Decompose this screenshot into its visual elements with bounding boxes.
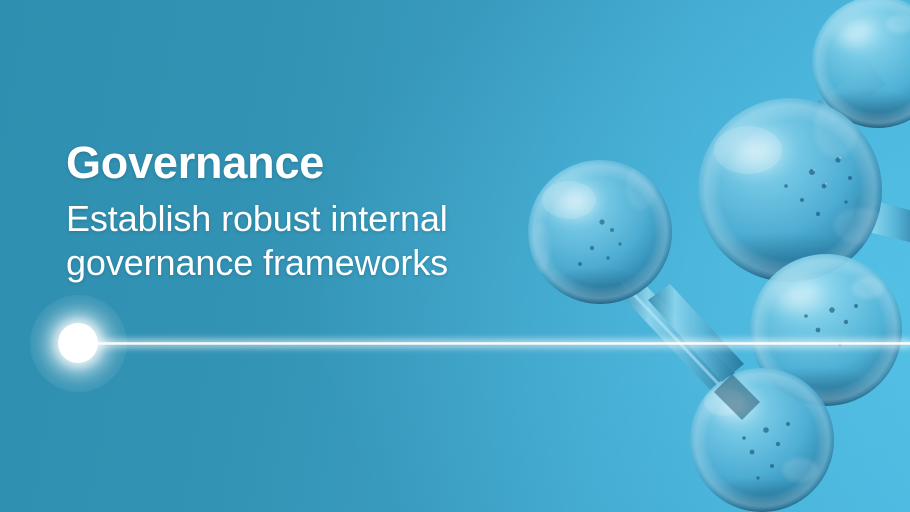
molecule-sphere-upper-right (686, 98, 886, 320)
subtitle-line-2: governance frameworks (66, 241, 536, 285)
molecule-sphere-top-right (796, 0, 910, 154)
molecule-bonds (612, 62, 910, 398)
molecule-sphere-right-lower (738, 254, 902, 438)
molecule-sphere-bottom (678, 368, 834, 512)
subtitle-line-1: Establish robust internal (66, 197, 536, 241)
timeline-start-marker[interactable] (58, 323, 98, 363)
banner-subtitle: Establish robust internal governance fra… (66, 197, 536, 285)
banner-text-block: Governance Establish robust internal gov… (66, 140, 536, 285)
timeline-rule (0, 341, 910, 346)
page-title: Governance (66, 140, 536, 185)
molecule-bond-front (648, 284, 760, 420)
molecule-sphere-center (520, 160, 672, 336)
governance-banner: Governance Establish robust internal gov… (0, 0, 910, 512)
timeline-line (78, 341, 910, 346)
